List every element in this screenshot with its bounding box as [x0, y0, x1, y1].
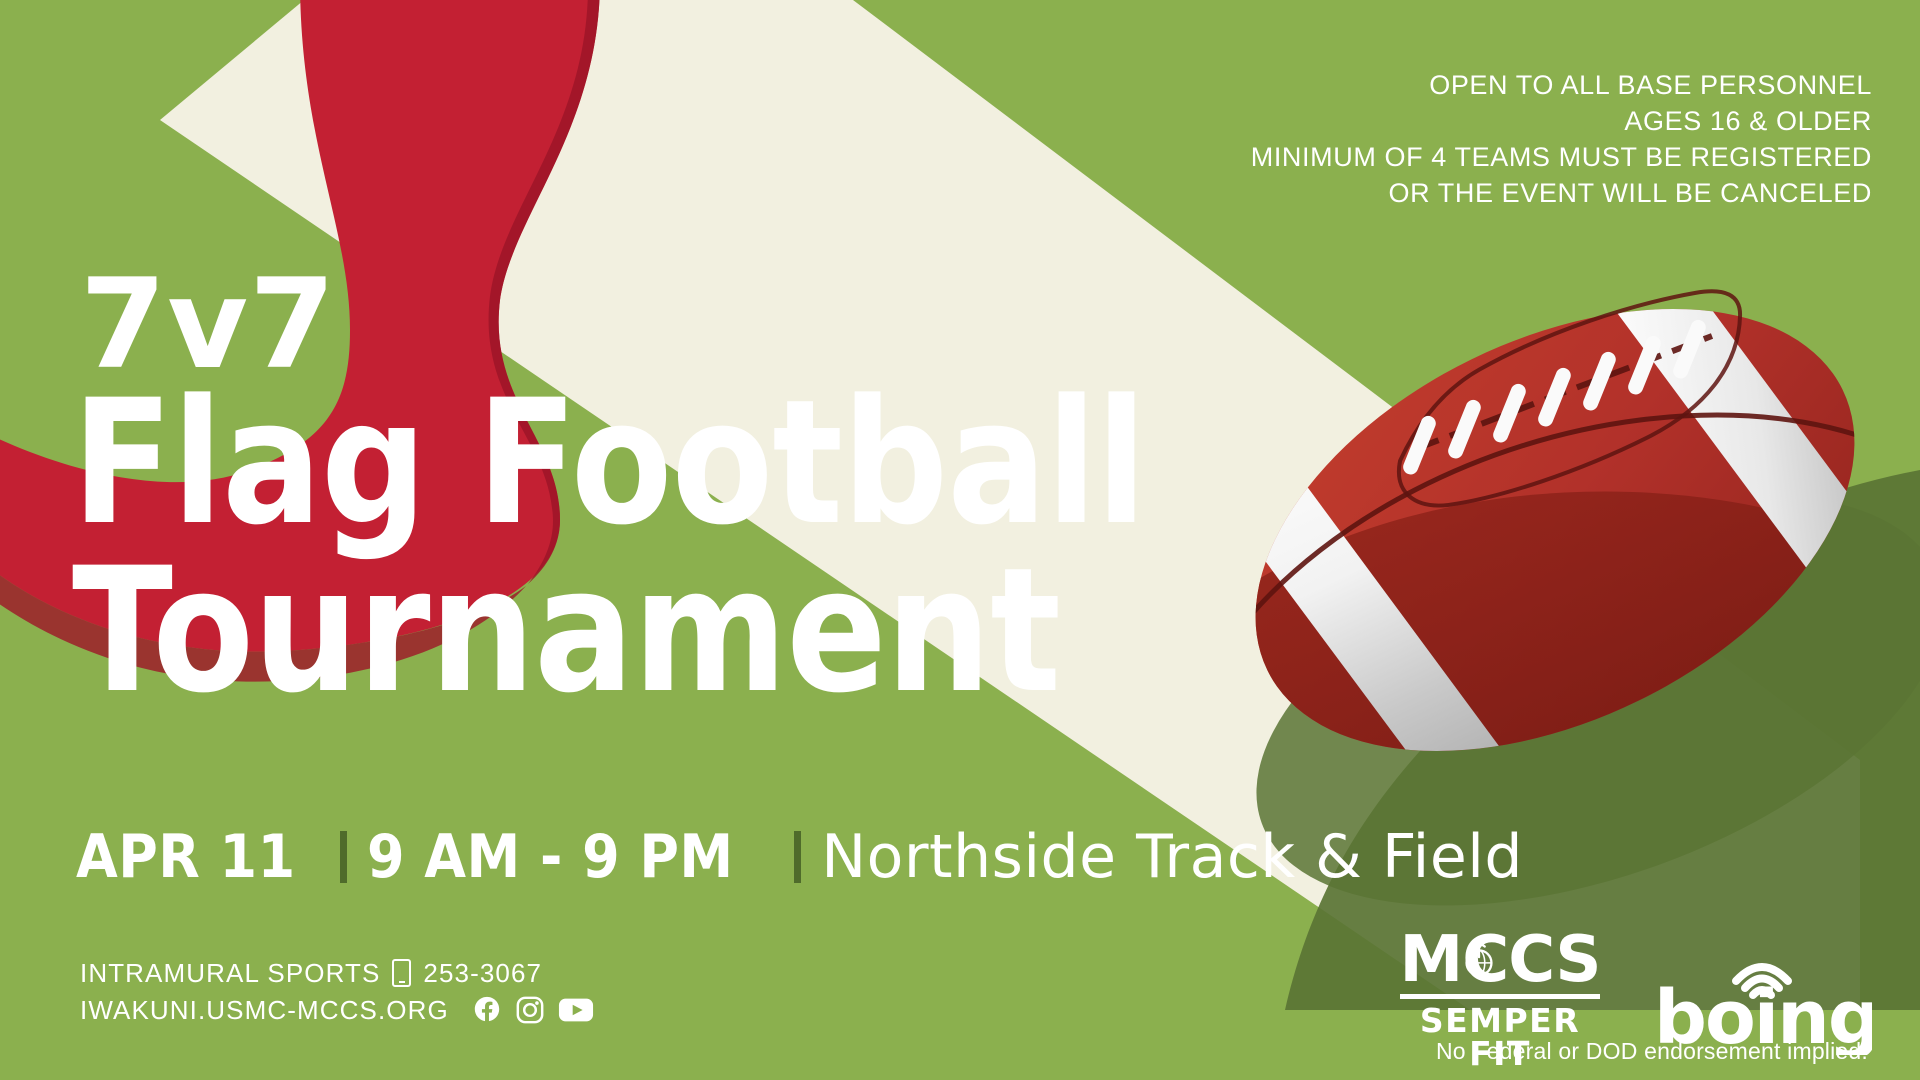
youtube-icon[interactable]	[558, 996, 594, 1024]
event-date: APR 11	[76, 822, 296, 892]
endorsement-disclaimer: No Federal or DOD endorsement implied.	[1436, 1038, 1868, 1065]
eagle-globe-anchor-icon	[1456, 936, 1502, 982]
poster-canvas: OPEN TO ALL BASE PERSONNEL AGES 16 & OLD…	[0, 0, 1920, 1080]
instagram-icon[interactable]	[515, 995, 545, 1025]
event-location: Northside Track & Field	[821, 822, 1523, 892]
contact-website[interactable]: IWAKUNI.USMC-MCCS.ORG	[80, 992, 449, 1029]
event-time: 9 AM - 9 PM	[367, 822, 734, 892]
headline-title-line-2: Tournament	[72, 552, 1146, 710]
eligibility-line-4: OR THE EVENT WILL BE CANCELED	[1251, 176, 1872, 212]
eligibility-block: OPEN TO ALL BASE PERSONNEL AGES 16 & OLD…	[1251, 68, 1872, 212]
contact-block: INTRAMURAL SPORTS 253-3067 IWAKUNI.USMC-…	[80, 955, 594, 1029]
mccs-wordmark-row: MCCS	[1400, 932, 1600, 988]
event-details-strip: APR 11 9 AM - 9 PM Northside Track & Fie…	[76, 822, 1523, 892]
contact-department: INTRAMURAL SPORTS	[80, 955, 380, 992]
eligibility-line-1: OPEN TO ALL BASE PERSONNEL	[1251, 68, 1872, 104]
eligibility-line-2: AGES 16 & OLDER	[1251, 104, 1872, 140]
headline-title-line-1: Flag Football	[72, 384, 1146, 542]
facebook-icon[interactable]	[472, 995, 502, 1025]
contact-phone-number[interactable]: 253-3067	[423, 955, 542, 992]
contact-website-row: IWAKUNI.USMC-MCCS.ORG	[80, 992, 594, 1029]
social-icon-row	[472, 995, 594, 1025]
contact-phone-row: INTRAMURAL SPORTS 253-3067	[80, 955, 594, 992]
detail-separator-2	[794, 831, 801, 883]
headline-block: 7v7 Flag Football Tournament	[72, 268, 1321, 711]
eligibility-line-3: MINIMUM OF 4 TEAMS MUST BE REGISTERED	[1251, 140, 1872, 176]
detail-separator-1	[340, 831, 347, 883]
mobile-phone-icon	[392, 959, 411, 987]
